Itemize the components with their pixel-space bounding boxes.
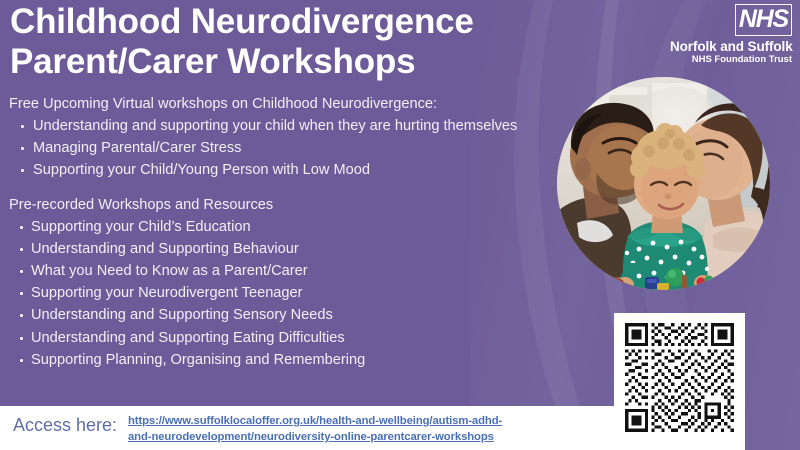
section-heading-prerecorded: Pre-recorded Workshops and Resources (9, 195, 529, 216)
family-photo (557, 77, 770, 290)
list-item: Supporting your Child’s Education (9, 217, 529, 238)
access-bar: Access here: https://www.suffolklocaloff… (0, 406, 620, 450)
list-item: What you Need to Know as a Parent/Carer (9, 261, 529, 282)
nhs-trust-subtitle: NHS Foundation Trust (670, 54, 792, 66)
list-item: Understanding and Supporting Eating Diff… (9, 328, 529, 349)
prerecorded-workshops-list: Supporting your Child’s Education Unders… (9, 217, 529, 371)
nhs-wordmark-icon: NHS (735, 4, 792, 36)
list-item: Supporting Planning, Organising and Reme… (9, 350, 529, 371)
poster-headline: Childhood Neurodivergence Parent/Carer W… (10, 2, 570, 81)
qr-code-icon[interactable] (625, 323, 734, 432)
nhs-logo: NHS Norfolk and Suffolk NHS Foundation T… (670, 4, 792, 66)
list-item: Understanding and Supporting Sensory Nee… (9, 305, 529, 326)
list-item: Supporting your Child/Young Person with … (9, 160, 529, 181)
nhs-trust-name: Norfolk and Suffolk (670, 39, 792, 54)
list-item: Understanding and supporting your child … (9, 116, 529, 137)
url-line-1: https://www.suffolklocaloffer.org.uk/hea… (128, 413, 598, 429)
headline-line-1: Childhood Neurodivergence (10, 2, 570, 42)
access-label: Access here: (13, 415, 117, 437)
workshops-url-link[interactable]: https://www.suffolklocaloffer.org.uk/hea… (128, 413, 598, 445)
list-item: Understanding and Supporting Behaviour (9, 239, 529, 260)
list-item: Managing Parental/Carer Stress (9, 138, 529, 159)
list-item: Supporting your Neurodivergent Teenager (9, 283, 529, 304)
upcoming-workshops-list: Understanding and supporting your child … (9, 116, 529, 181)
url-line-2: and-neurodevelopment/neurodiversity-onli… (128, 429, 598, 445)
section-heading-upcoming: Free Upcoming Virtual workshops on Child… (9, 94, 529, 115)
poster-canvas: Childhood Neurodivergence Parent/Carer W… (0, 0, 800, 450)
headline-line-2: Parent/Carer Workshops (10, 42, 570, 82)
poster-body-copy: Free Upcoming Virtual workshops on Child… (9, 94, 529, 372)
qr-code-panel (614, 313, 745, 450)
